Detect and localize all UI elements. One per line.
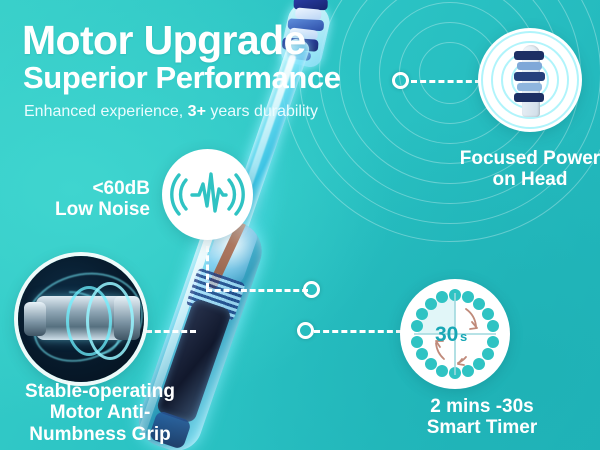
- subtitle-prefix: Enhanced experience,: [24, 103, 188, 120]
- connector-line-noise-vertical: [206, 246, 209, 289]
- headline-line2: Superior Performance: [23, 62, 341, 93]
- connector-dot-noise: [303, 281, 320, 298]
- focused-power-icon-circle: [478, 28, 582, 132]
- smart-timer-icon-circle: 30 s: [400, 279, 510, 389]
- product-infographic-poster: <60dB Low Noise Focused Power on Head: [0, 0, 600, 450]
- stable-motor-label-line2: Motor Anti-: [0, 402, 200, 423]
- timer-icon: 30 s: [400, 279, 510, 389]
- connector-dot-motor: [297, 322, 314, 339]
- connector-line-timer: [314, 330, 402, 333]
- focused-power-label-line1: Focused Power: [432, 148, 600, 169]
- connector-line-noise-horizontal: [206, 289, 308, 292]
- headline-line1: Motor Upgrade: [22, 20, 306, 61]
- low-noise-icon-circle: [162, 149, 253, 240]
- sound-wave-icon: [162, 149, 253, 240]
- low-noise-label-line1: <60dB: [0, 178, 150, 199]
- connector-line-motor: [146, 330, 196, 333]
- focused-power-label: Focused Power on Head: [432, 148, 600, 191]
- low-noise-label-line2: Low Noise: [0, 199, 150, 220]
- smart-timer-label-line2: Smart Timer: [372, 417, 592, 438]
- stable-motor-label: Stable-operating Motor Anti- Numbness Gr…: [0, 381, 200, 445]
- brush-head-photo: [510, 43, 550, 117]
- stable-motor-label-line1: Stable-operating: [0, 381, 200, 402]
- low-noise-label: <60dB Low Noise: [0, 178, 150, 221]
- connector-dot-head: [392, 72, 409, 89]
- headline-subtitle: Enhanced experience, 3+ years durability: [24, 104, 318, 120]
- timer-unit: s: [460, 329, 467, 344]
- subtitle-highlight: 3+: [188, 103, 206, 120]
- connector-line-head: [411, 80, 481, 83]
- stable-motor-label-line3: Numbness Grip: [0, 424, 200, 445]
- smart-timer-label-line1: 2 mins -30s: [372, 396, 592, 417]
- focused-power-label-line2: on Head: [432, 169, 600, 190]
- smart-timer-label: 2 mins -30s Smart Timer: [372, 396, 592, 439]
- stable-motor-icon-circle: [18, 256, 144, 382]
- timer-value: 30: [435, 323, 458, 346]
- subtitle-suffix: years durability: [206, 103, 318, 120]
